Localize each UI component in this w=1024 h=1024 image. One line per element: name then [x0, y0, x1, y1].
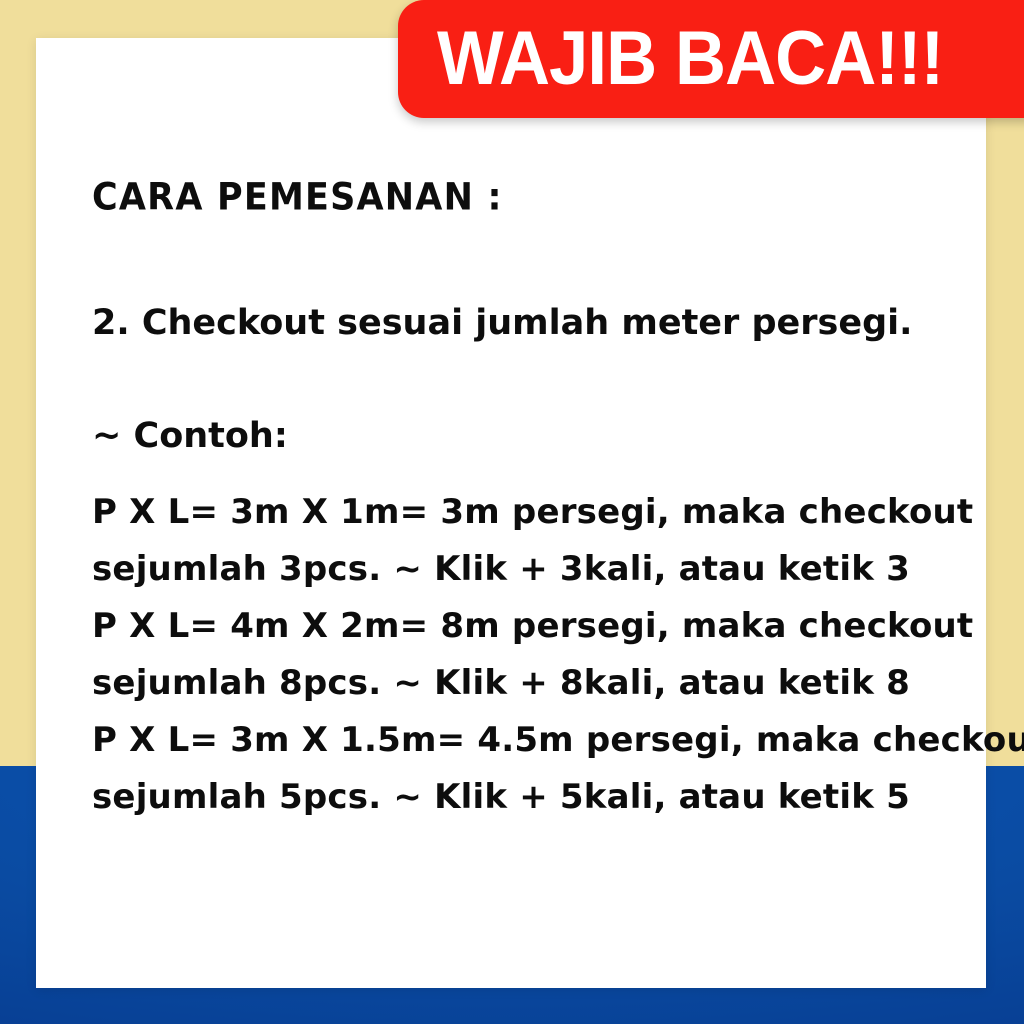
- card-content: CARA PEMESANAN : 2. Checkout sesuai juml…: [92, 160, 1022, 826]
- list-item: P X L= 3m X 1.5m= 4.5m persegi, maka che…: [92, 712, 1022, 769]
- content-card: CARA PEMESANAN : 2. Checkout sesuai juml…: [36, 38, 986, 988]
- poster-canvas: CARA PEMESANAN : 2. Checkout sesuai juml…: [0, 0, 1024, 1024]
- list-item: sejumlah 3pcs. ~ Klik + 3kali, atau keti…: [92, 541, 1022, 598]
- page-title: CARA PEMESANAN :: [92, 160, 1022, 217]
- list-item: P X L= 4m X 2m= 8m persegi, maka checkou…: [92, 598, 1022, 655]
- order-step-text: 2. Checkout sesuai jumlah meter persegi.: [92, 213, 1022, 341]
- example-list: P X L= 3m X 1m= 3m persegi, maka checkou…: [92, 454, 1022, 826]
- list-item: sejumlah 5pcs. ~ Klik + 5kali, atau keti…: [92, 769, 1022, 826]
- list-item: P X L= 3m X 1m= 3m persegi, maka checkou…: [92, 484, 1022, 541]
- example-label: ~ Contoh:: [92, 341, 1022, 454]
- list-item: sejumlah 8pcs. ~ Klik + 8kali, atau keti…: [92, 655, 1022, 712]
- attention-banner: WAJIB BACA!!!: [398, 0, 1024, 118]
- attention-banner-label: WAJIB BACA!!!: [398, 21, 943, 97]
